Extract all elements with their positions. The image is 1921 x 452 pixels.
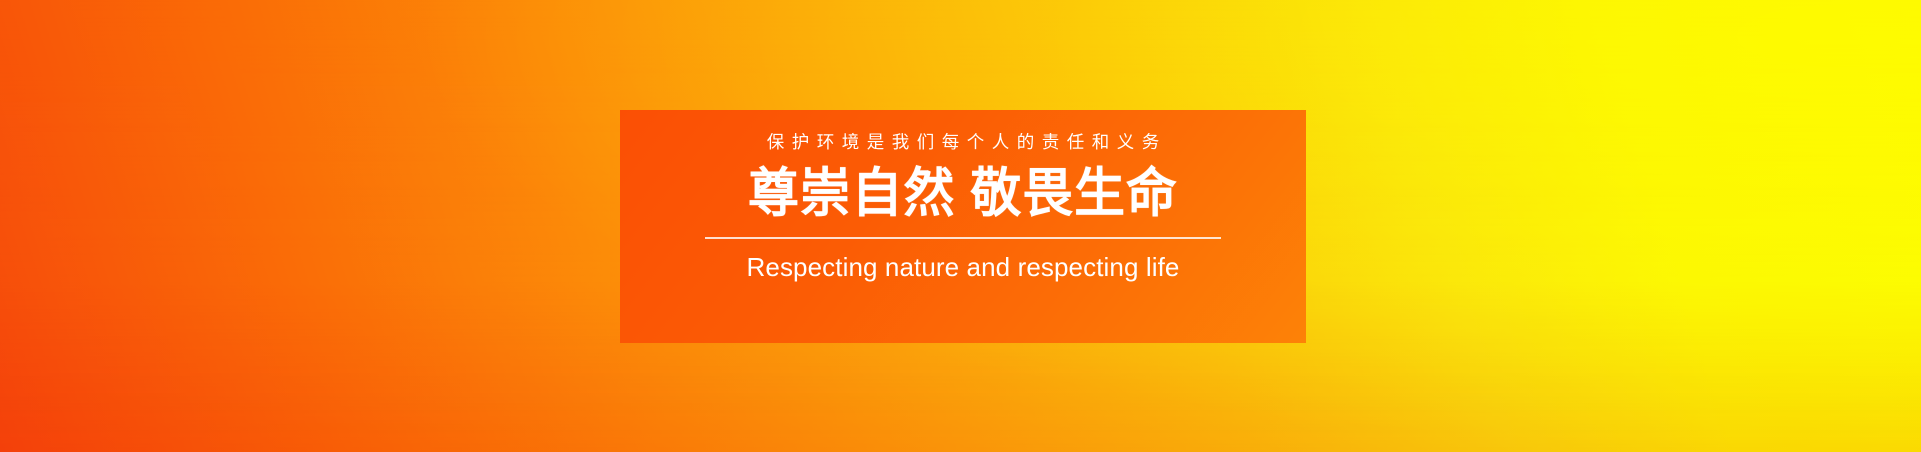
slogan-panel: 保护环境是我们每个人的责任和义务 尊崇自然 敬畏生命 Respecting na… bbox=[620, 110, 1306, 343]
slogan-panel-content: 保护环境是我们每个人的责任和义务 尊崇自然 敬畏生命 Respecting na… bbox=[620, 110, 1306, 280]
strapline-text: Respecting nature and respecting life bbox=[747, 254, 1180, 280]
lead-line-text: 保护环境是我们每个人的责任和义务 bbox=[759, 134, 1167, 152]
headline-text: 尊崇自然 敬畏生命 bbox=[748, 166, 1178, 221]
banner-stage: 保护环境是我们每个人的责任和义务 尊崇自然 敬畏生命 Respecting na… bbox=[0, 0, 1921, 452]
headline-divider bbox=[705, 237, 1221, 239]
